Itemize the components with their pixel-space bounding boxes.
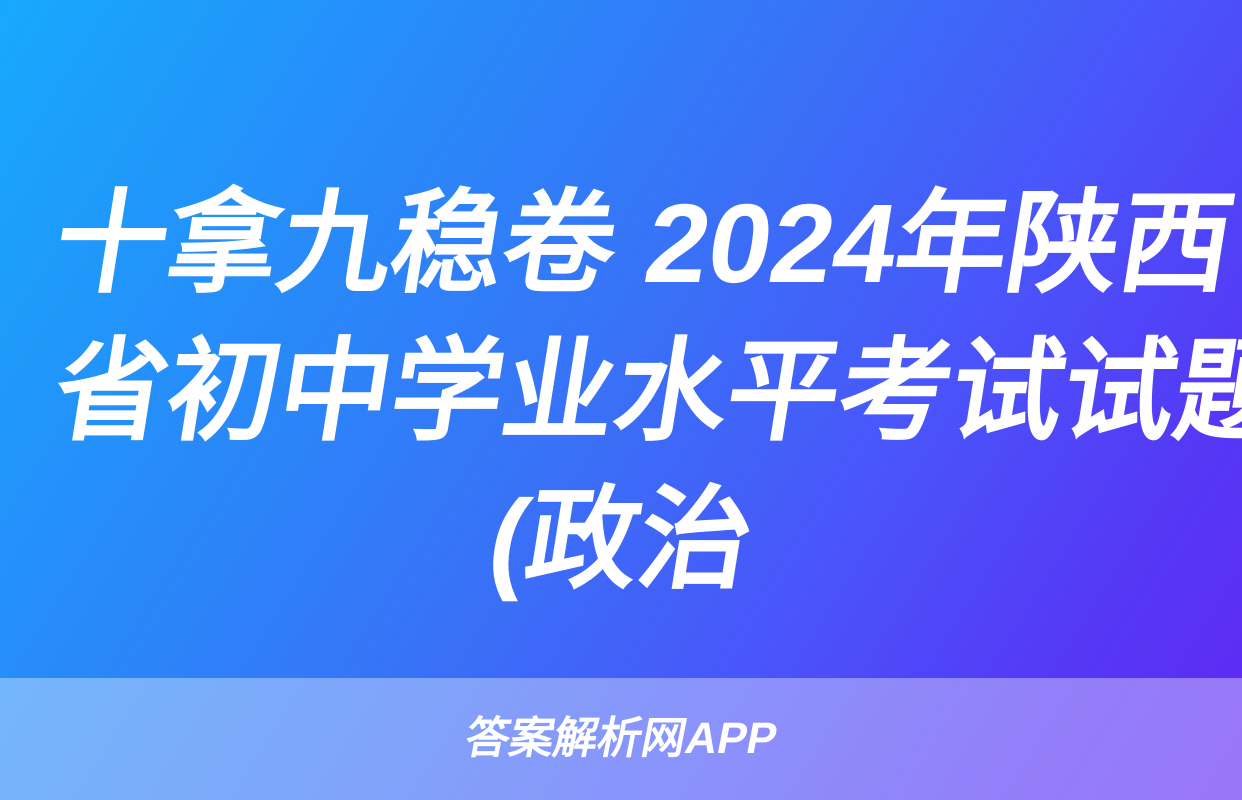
page-title: 十拿九稳卷 2024年陕西 省初中学业水平考试试题 (政治	[0, 170, 1242, 614]
title-line-2: 省初中学业水平考试试题	[44, 318, 1197, 466]
title-line-3: (政治	[44, 466, 1197, 614]
watermark-band: 答案解析网APP	[0, 678, 1242, 800]
title-line-1: 十拿九稳卷 2024年陕西	[44, 170, 1197, 318]
watermark-app-label: 答案解析网APP	[461, 717, 780, 761]
poster-canvas: 十拿九稳卷 2024年陕西 省初中学业水平考试试题 (政治 答案解析网APP	[0, 0, 1242, 800]
